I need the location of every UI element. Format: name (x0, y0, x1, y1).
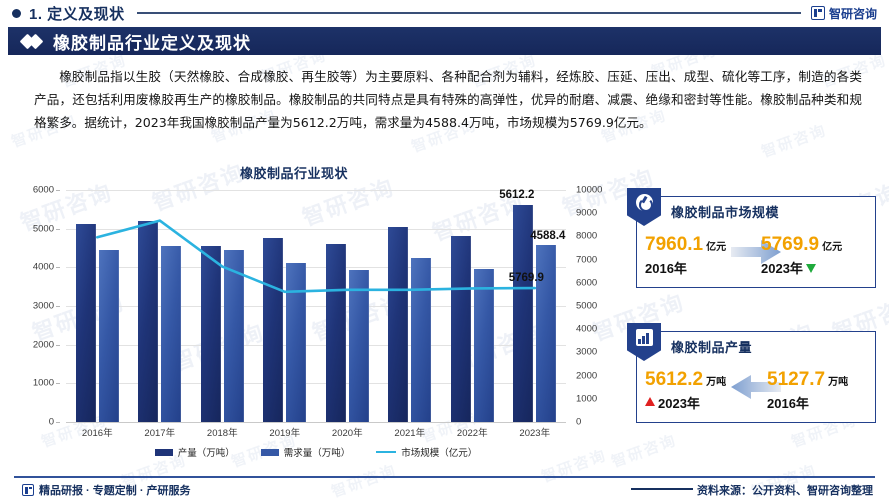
chart-x-axis: 2016年2017年2018年2019年2020年2021年2022年2023年 (66, 425, 566, 441)
data-label-market-scale: 5769.9 (509, 272, 544, 284)
card-header: 橡胶制品市场规模 (637, 197, 875, 225)
card-value-left: 5612.2 万吨 2023年 (645, 370, 726, 413)
chart-title: 橡胶制品行业现状 (14, 163, 574, 182)
body-paragraph: 橡胶制品指以生胶（天然橡胶、合成橡胶、再生胶等）为主要原料、各种配合剂为辅料，经… (34, 66, 862, 135)
legend-swatch (155, 449, 173, 456)
zhiyan-logo-icon (22, 484, 34, 496)
y-tick-right: 5000 (576, 301, 597, 312)
card-year-right: 2023年 (761, 258, 842, 277)
footer-slogan-text: 精品研报 · 专题定制 · 产研服务 (39, 482, 191, 498)
x-tick-label: 2018年 (207, 425, 238, 439)
bullet-dot-icon (12, 9, 21, 18)
y-tick-right: 10000 (576, 185, 602, 196)
card-number-left: 7960.1 亿元 (645, 235, 726, 255)
card-unit-left: 亿元 (706, 243, 726, 254)
y-tick-right: 0 (576, 417, 581, 428)
data-label-production: 5612.2 (499, 189, 534, 201)
card-header: 橡胶制品产量 (637, 332, 875, 360)
trend-down-icon (806, 264, 816, 273)
tire-gauge-icon (627, 188, 661, 226)
legend-item-2[interactable]: 需求量（万吨） (261, 445, 351, 459)
legend-swatch (261, 449, 279, 456)
zhiyan-logo-icon (811, 6, 825, 20)
y-tick-right: 3000 (576, 347, 597, 358)
source-note: 资料来源：公开资料、智研咨询整理 (697, 482, 873, 498)
footer-slogan: 精品研报 · 专题定制 · 产研服务 (22, 482, 191, 498)
chart-legend: 产量（万吨）需求量（万吨）市场规模（亿元） (66, 445, 566, 459)
y-tick-left: 4000 (33, 262, 54, 273)
y-tick-right: 8000 (576, 231, 597, 242)
card-market-scale: 橡胶制品市场规模 7960.1 亿元 2016年 5769.9 亿元 2023年 (636, 196, 876, 288)
card-value-right: 5769.9 亿元 2023年 (761, 235, 842, 278)
card-production-volume: 橡胶制品产量 5612.2 万吨 2023年 5127.7 万吨 (636, 331, 876, 423)
card-number-right: 5127.7 万吨 (767, 370, 848, 390)
line-market-scale (97, 221, 535, 292)
bar-chart-up-icon (627, 323, 661, 361)
trend-up-icon (645, 397, 655, 406)
y-tick-left: 0 (49, 417, 54, 428)
source-rule (631, 488, 693, 490)
card-number-right: 5769.9 亿元 (761, 235, 842, 255)
card-title: 橡胶制品产量 (671, 337, 752, 356)
legend-item-1[interactable]: 产量（万吨） (155, 445, 235, 459)
legend-label: 需求量（万吨） (284, 445, 351, 459)
card-unit-left: 万吨 (706, 378, 726, 389)
legend-label: 产量（万吨） (178, 445, 235, 459)
card-body: 5612.2 万吨 2023年 5127.7 万吨 2016年 (637, 360, 875, 422)
card-value-left: 7960.1 亿元 2016年 (645, 235, 726, 278)
legend-item-3[interactable]: 市场规模（亿元） (376, 445, 477, 459)
chart-line-series (66, 190, 566, 422)
card-unit-right: 亿元 (822, 243, 842, 254)
card-year-left: 2023年 (645, 393, 726, 412)
card-year-right: 2016年 (767, 393, 848, 412)
section-title-band: 橡胶制品行业定义及现状 (8, 27, 881, 55)
card-unit-right: 万吨 (828, 378, 848, 389)
chart-panel: 橡胶制品行业现状 0100020003000400050006000 01000… (14, 163, 624, 475)
breadcrumb: 1. 定义及现状 (29, 3, 125, 24)
top-breadcrumb-bar: 1. 定义及现状 智研咨询 (0, 0, 889, 26)
card-body: 7960.1 亿元 2016年 5769.9 亿元 2023年 (637, 225, 875, 287)
y-tick-right: 4000 (576, 324, 597, 335)
y-tick-left: 3000 (33, 301, 54, 312)
data-label-demand: 4588.4 (530, 230, 565, 242)
chart-plot-area: 5612.24588.45769.9 (66, 190, 566, 422)
card-year-left: 2016年 (645, 258, 726, 277)
double-diamond-icon (22, 36, 41, 47)
y-tick-right: 1000 (576, 393, 597, 404)
x-tick-label: 2023年 (519, 425, 550, 439)
y-tick-right: 6000 (576, 277, 597, 288)
chart-y-axis-right: 0100020003000400050006000700080009000100… (570, 190, 618, 422)
y-tick-left: 5000 (33, 223, 54, 234)
card-value-right: 5127.7 万吨 2016年 (767, 370, 848, 413)
x-tick-label: 2016年 (82, 425, 113, 439)
brand-logo: 智研咨询 (811, 5, 877, 22)
legend-swatch (376, 451, 396, 454)
card-number-left: 5612.2 万吨 (645, 370, 726, 390)
page-title: 橡胶制品行业定义及现状 (53, 29, 251, 54)
x-tick-label: 2021年 (394, 425, 425, 439)
x-tick-label: 2022年 (457, 425, 488, 439)
x-tick-label: 2020年 (332, 425, 363, 439)
footer-divider (14, 476, 875, 478)
y-tick-left: 1000 (33, 378, 54, 389)
legend-label: 市场规模（亿元） (401, 445, 477, 459)
brand-name: 智研咨询 (829, 5, 877, 22)
chart-y-axis-left: 0100020003000400050006000 (14, 190, 60, 422)
y-tick-right: 9000 (576, 208, 597, 219)
y-tick-left: 2000 (33, 339, 54, 350)
breadcrumb-rule (137, 12, 801, 14)
y-tick-right: 7000 (576, 254, 597, 265)
x-tick-label: 2019年 (269, 425, 300, 439)
y-tick-left: 6000 (33, 185, 54, 196)
card-title: 橡胶制品市场规模 (671, 202, 779, 221)
y-tick-right: 2000 (576, 370, 597, 381)
x-tick-label: 2017年 (144, 425, 175, 439)
